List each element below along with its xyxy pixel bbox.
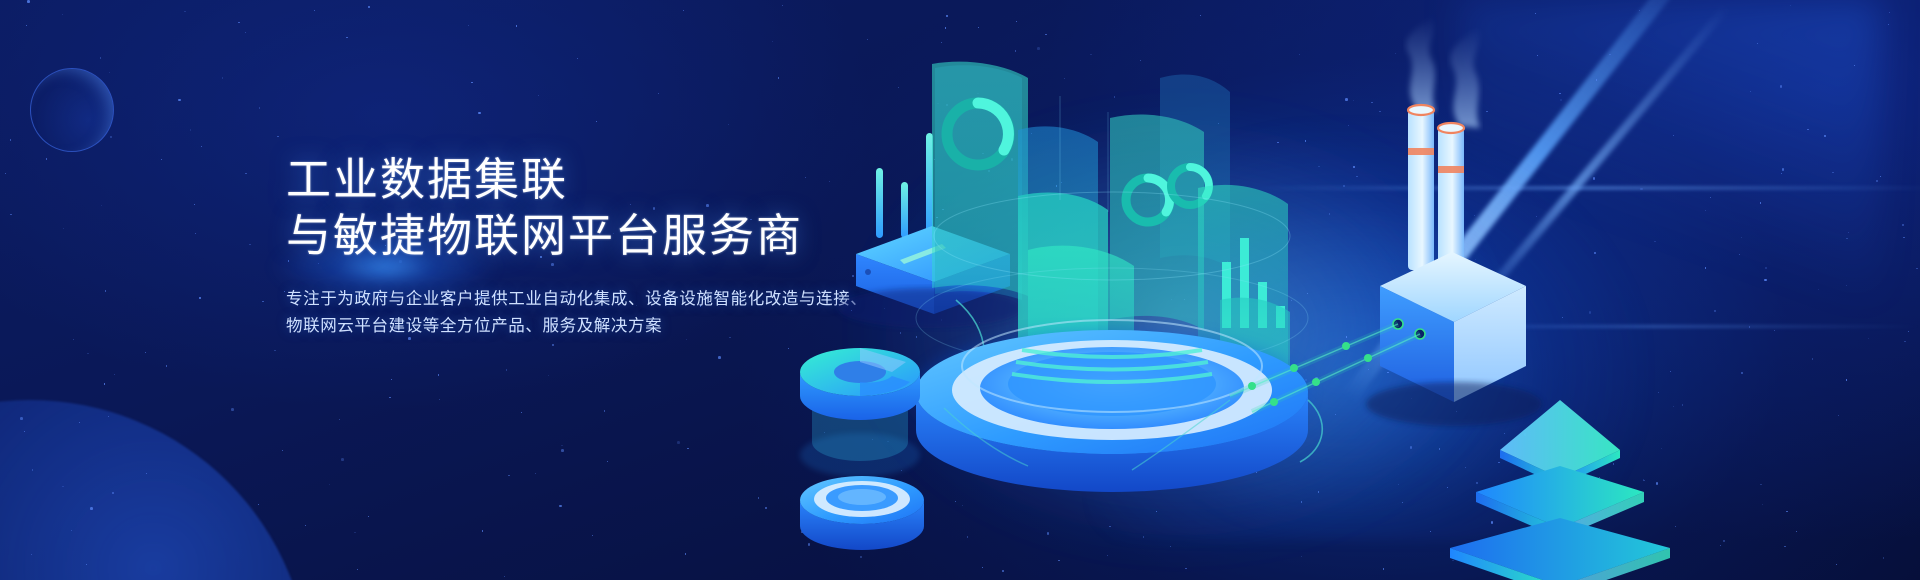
star [105, 290, 106, 291]
star [577, 58, 578, 59]
star [658, 93, 659, 94]
star [439, 399, 440, 400]
star [90, 507, 93, 510]
star [222, 77, 223, 78]
star [10, 214, 11, 215]
star [146, 473, 147, 474]
star [5, 173, 6, 174]
chimney-2-band [1438, 166, 1464, 173]
star [552, 344, 553, 345]
router-antenna-2 [901, 182, 908, 238]
star [561, 449, 564, 452]
star [27, 0, 30, 3]
star [504, 576, 505, 577]
star [346, 37, 347, 38]
star [596, 121, 597, 122]
star [391, 379, 392, 380]
hero-illustration [760, 0, 1920, 580]
small-disc-platform [800, 476, 924, 550]
star [357, 569, 358, 570]
data-dot [1290, 364, 1298, 372]
chimney-1 [1408, 110, 1434, 270]
smoke-plume-1 [1406, 16, 1436, 112]
star [201, 146, 202, 147]
star [184, 11, 185, 12]
star [245, 32, 246, 33]
star [63, 228, 64, 229]
star [592, 535, 593, 536]
chimney-1-rim [1408, 105, 1434, 115]
router-shadow [838, 288, 1022, 328]
star [314, 10, 315, 11]
star [100, 57, 101, 58]
data-dot [1312, 378, 1320, 386]
star [339, 419, 340, 420]
star [685, 553, 686, 554]
star [718, 356, 721, 359]
smoke-plume-2 [1450, 26, 1480, 128]
star [677, 441, 680, 444]
star [101, 205, 102, 206]
star [24, 431, 25, 432]
star [604, 410, 605, 411]
data-dot [1248, 382, 1256, 390]
star [274, 350, 275, 351]
star [46, 158, 47, 159]
donut-chart-cylinder [800, 348, 920, 477]
star [329, 484, 330, 485]
pyramid-layer-3-top [1450, 518, 1670, 580]
chimney-2-rim [1438, 123, 1464, 133]
star [282, 450, 283, 451]
star [114, 374, 115, 375]
star [62, 486, 63, 487]
star [79, 422, 80, 423]
star [354, 532, 355, 533]
data-panel-left [932, 62, 1028, 296]
star [607, 461, 608, 462]
star [368, 6, 369, 7]
star [538, 95, 539, 96]
star [195, 233, 196, 234]
star [368, 516, 369, 517]
star [194, 204, 195, 205]
chimney-1-band [1408, 148, 1434, 155]
star [389, 397, 390, 398]
star [26, 25, 27, 26]
star [62, 14, 63, 15]
star [468, 25, 469, 26]
star [277, 136, 278, 137]
star [258, 504, 259, 505]
star [190, 129, 191, 130]
planet-arc-bottom-left [0, 400, 310, 580]
router-port-dot [865, 269, 871, 275]
star [71, 530, 72, 531]
star [561, 445, 562, 446]
star [482, 530, 483, 531]
star [231, 408, 234, 411]
star [73, 339, 74, 340]
star [535, 473, 536, 474]
layered-pyramid-chart [1450, 400, 1670, 580]
star [199, 297, 200, 298]
router-antenna-3 [926, 133, 933, 238]
star [259, 107, 260, 108]
star [178, 99, 181, 102]
star [478, 112, 481, 115]
star [262, 301, 263, 302]
star [683, 10, 684, 11]
star [20, 417, 23, 420]
star [112, 492, 115, 495]
data-dot [1364, 354, 1372, 362]
star [110, 136, 113, 139]
star [87, 353, 88, 354]
star [516, 25, 517, 26]
crescent-planet-icon [30, 68, 114, 152]
star [32, 469, 33, 470]
star [249, 244, 250, 245]
star [559, 505, 562, 508]
data-dot [1270, 398, 1278, 406]
star [145, 352, 146, 353]
star [687, 448, 688, 449]
factory-shadow [1366, 382, 1542, 426]
star [108, 416, 109, 417]
star [86, 564, 87, 565]
star [548, 375, 549, 376]
router-antenna-1 [876, 168, 883, 238]
star [471, 82, 472, 83]
star [104, 383, 105, 384]
star [31, 554, 32, 555]
small-platform-core [838, 489, 886, 505]
data-dot [1342, 342, 1350, 350]
star [521, 412, 522, 413]
star [109, 72, 110, 73]
star [166, 365, 167, 366]
star [161, 159, 162, 160]
star [305, 525, 306, 526]
star [728, 124, 729, 125]
star [245, 173, 246, 174]
star [341, 458, 344, 461]
star [238, 22, 239, 23]
star [506, 369, 507, 370]
star [10, 139, 11, 140]
star [438, 374, 439, 375]
hero-banner: 工业数据集联 与敏捷物联网平台服务商 专注于为政府与企业客户提供工业自动化集成、… [0, 0, 1920, 580]
star [508, 475, 509, 476]
